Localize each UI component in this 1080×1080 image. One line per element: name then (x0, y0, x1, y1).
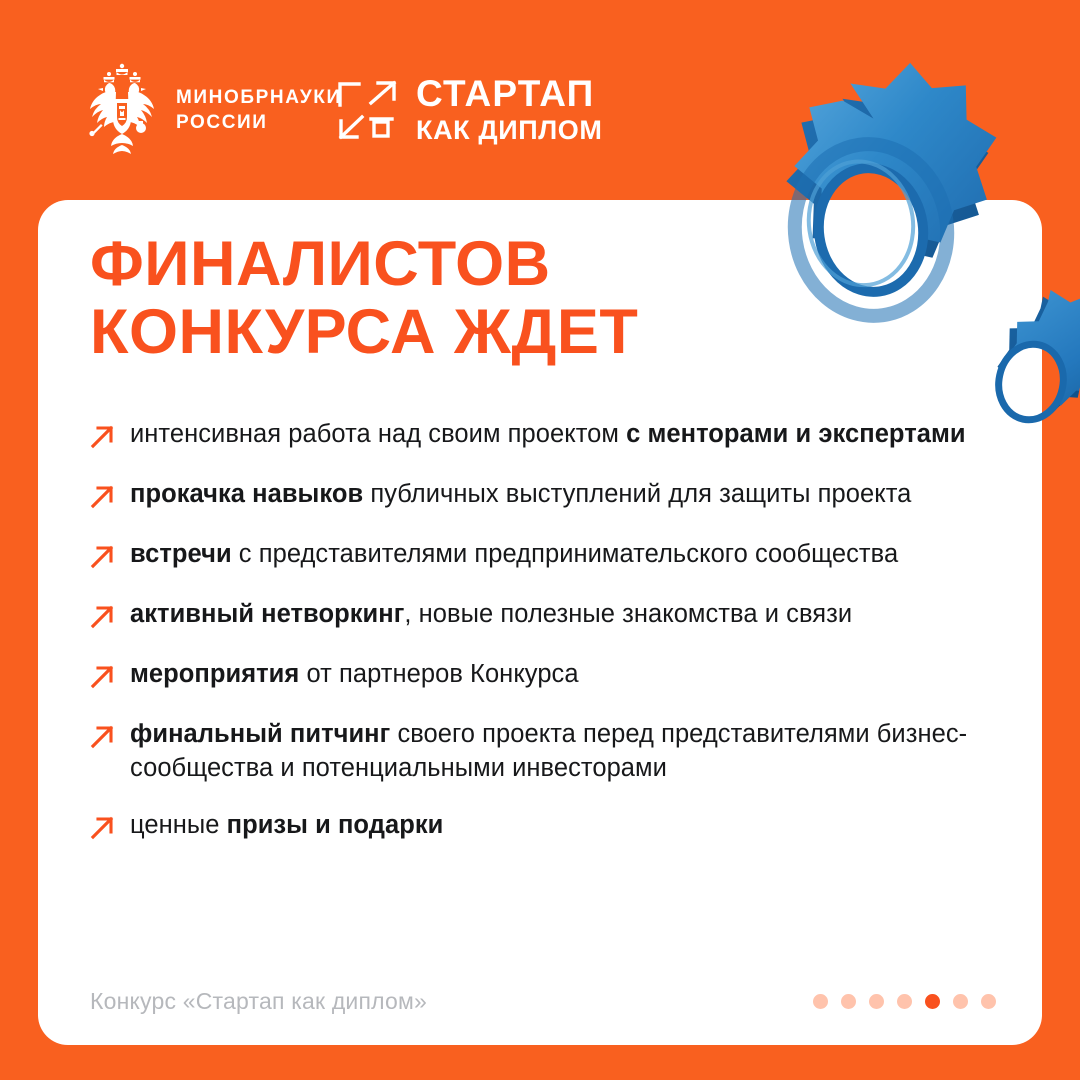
content-card: ФИНАЛИСТОВ КОНКУРСА ЖДЕТ интенсивная раб… (38, 200, 1042, 1045)
list-item: активный нетворкинг, новые полезные знак… (90, 598, 1000, 635)
arrow-up-right-icon (90, 481, 116, 515)
list-item: встречи с представителями предпринимател… (90, 538, 1000, 575)
page-title-line-1: ФИНАЛИСТОВ (90, 230, 790, 298)
logo-line-2: КАК ДИПЛОМ (416, 115, 602, 145)
list-item-plain: , новые полезные знакомства и связи (404, 600, 852, 628)
page-title: ФИНАЛИСТОВ КОНКУРСА ЖДЕТ (90, 230, 790, 366)
ministry-branding: МИНОБРНАУКИ РОССИИ (86, 62, 342, 158)
header: МИНОБРНАУКИ РОССИИ СТ (0, 0, 1080, 200)
list-item: ценные призы и подарки (90, 809, 1000, 846)
pagination-dot[interactable] (897, 994, 912, 1009)
list-item-emphasis: финальный питчинг (130, 720, 390, 748)
list-item-text: активный нетворкинг, новые полезные знак… (130, 598, 852, 632)
list-item-emphasis: встречи (130, 540, 232, 568)
pagination-dot[interactable] (953, 994, 968, 1009)
list-item: интенсивная работа над своим проектом с … (90, 418, 1000, 455)
arrow-up-right-icon (90, 601, 116, 635)
logo-line-1: СТАРТАП (416, 76, 602, 112)
arrow-up-right-icon (90, 721, 116, 755)
list-item-plain: с представителями предпринимательского с… (232, 540, 899, 568)
pagination-dots[interactable] (813, 994, 996, 1009)
list-item-emphasis: с менторами и экспертами (626, 420, 966, 448)
list-item: прокачка навыков публичных выступлений д… (90, 478, 1000, 515)
list-item: мероприятия от партнеров Конкурса (90, 658, 1000, 695)
arrow-up-right-icon (90, 421, 116, 455)
pagination-dot[interactable] (841, 994, 856, 1009)
arrow-up-right-icon (90, 541, 116, 575)
list-item-emphasis: активный нетворкинг (130, 600, 404, 628)
list-item-emphasis: призы и подарки (227, 811, 444, 839)
list-item-emphasis: прокачка навыков (130, 480, 363, 508)
ministry-name: МИНОБРНАУКИ РОССИИ (176, 85, 342, 136)
pagination-dot[interactable] (981, 994, 996, 1009)
list-item-plain: интенсивная работа над своим проектом (130, 420, 626, 448)
list-item-emphasis: мероприятия (130, 660, 299, 688)
arrow-up-right-icon (90, 812, 116, 846)
list-item-plain: публичных выступлений для защиты проекта (363, 480, 911, 508)
benefits-list: интенсивная работа над своим проектом с … (90, 418, 1000, 846)
list-item: финальный питчинг своего проекта перед п… (90, 718, 1000, 786)
pagination-dot[interactable] (869, 994, 884, 1009)
list-item-text: интенсивная работа над своим проектом с … (130, 418, 966, 452)
startup-diploma-mark-icon (337, 80, 399, 142)
list-item-plain: ценные (130, 811, 227, 839)
list-item-text: встречи с представителями предпринимател… (130, 538, 898, 572)
list-item-text: финальный питчинг своего проекта перед п… (130, 718, 992, 786)
list-item-text: прокачка навыков публичных выступлений д… (130, 478, 911, 512)
program-logo[interactable]: СТАРТАП КАК ДИПЛОМ (337, 76, 602, 145)
page-title-line-2: КОНКУРСА ЖДЕТ (90, 298, 790, 366)
list-item-text: мероприятия от партнеров Конкурса (130, 658, 579, 692)
pagination-dot-active[interactable] (925, 994, 940, 1009)
program-logo-wordmark: СТАРТАП КАК ДИПЛОМ (416, 76, 602, 145)
poster: МИНОБРНАУКИ РОССИИ СТ (0, 0, 1080, 1080)
list-item-text: ценные призы и подарки (130, 809, 443, 843)
card-footer: Конкурс «Стартап как диплом» (90, 988, 996, 1015)
list-item-plain: от партнеров Конкурса (299, 660, 578, 688)
footer-label: Конкурс «Стартап как диплом» (90, 988, 427, 1015)
arrow-up-right-icon (90, 661, 116, 695)
russian-coat-of-arms-icon (86, 62, 158, 158)
pagination-dot[interactable] (813, 994, 828, 1009)
